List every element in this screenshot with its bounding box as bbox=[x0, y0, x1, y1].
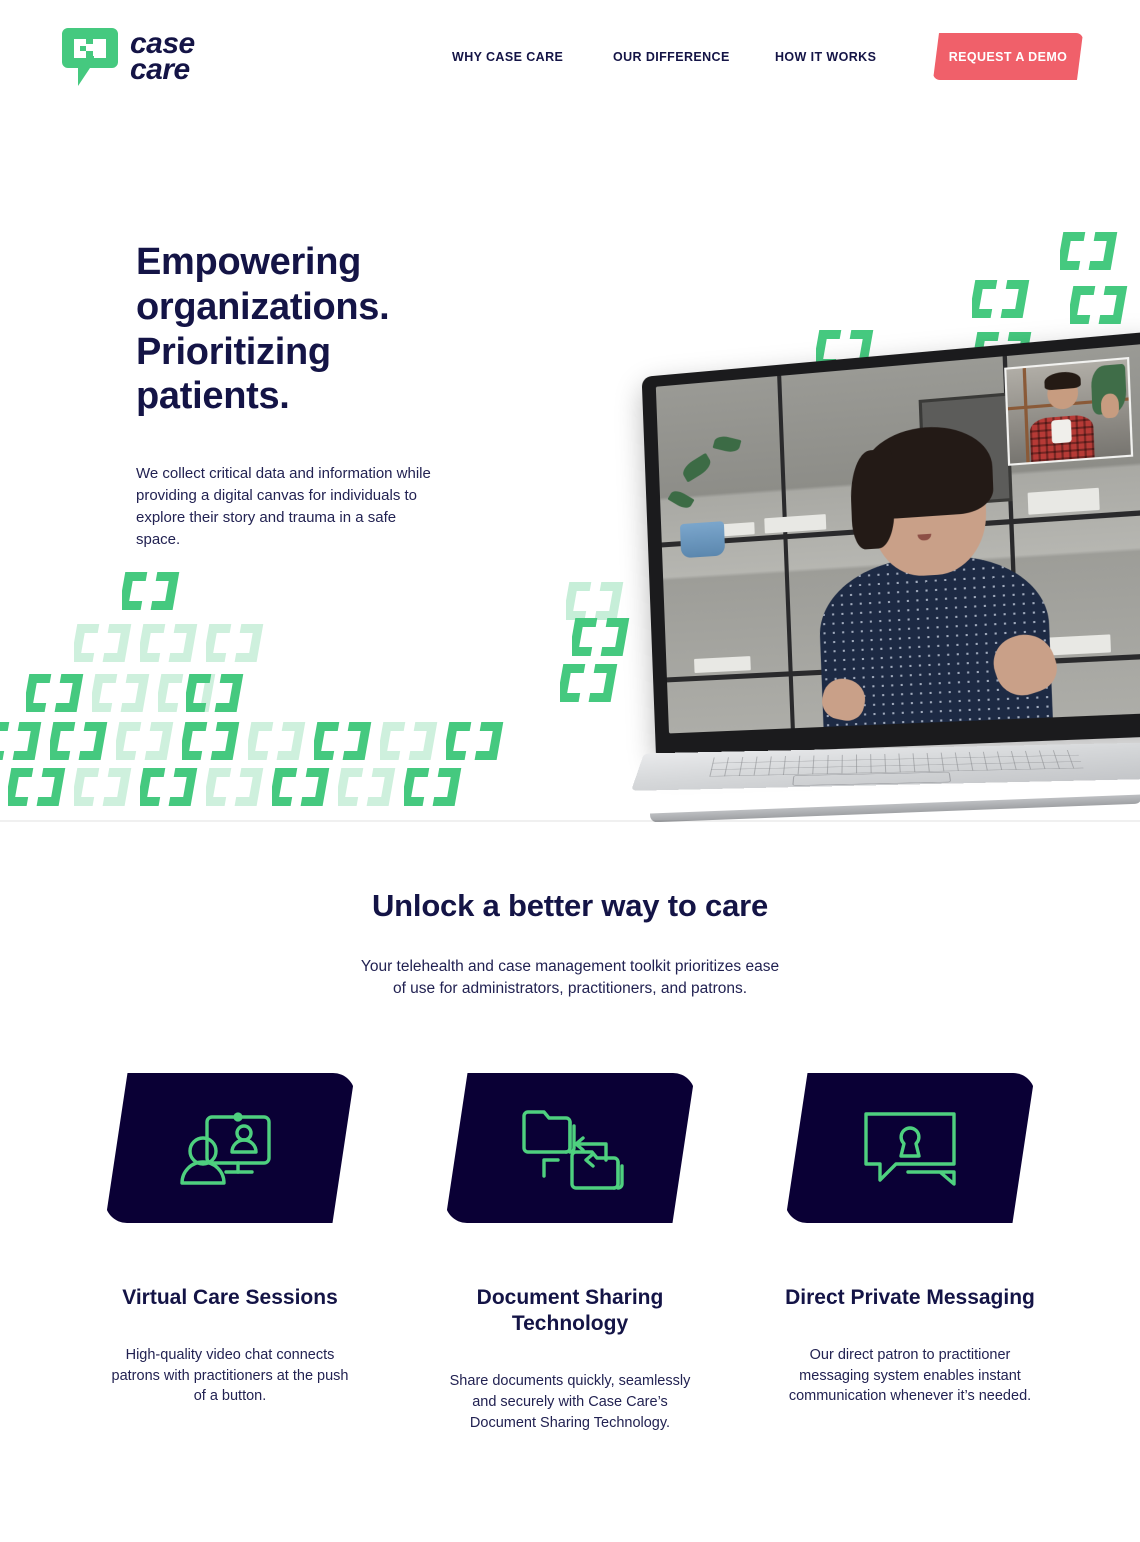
feature-card-description: Our direct patron to practitioner messag… bbox=[785, 1345, 1035, 1407]
folder-exchange-icon bbox=[514, 1100, 626, 1196]
feature-card-title: Direct Private Messaging bbox=[785, 1285, 1035, 1311]
hero-copy: Empowering organizations. Prioritizing p… bbox=[136, 240, 446, 550]
logo-wordmark: case care bbox=[130, 31, 195, 84]
bracket-decoration bbox=[338, 764, 400, 810]
laptop-lid bbox=[642, 331, 1140, 756]
bracket-decoration bbox=[74, 620, 136, 666]
feature-card-title: Virtual Care Sessions bbox=[122, 1285, 338, 1311]
nav-item-how-it-works[interactable]: HOW IT WORKS bbox=[775, 50, 876, 64]
bracket-decoration bbox=[0, 718, 46, 764]
bracket-decoration bbox=[206, 764, 268, 810]
chat-keyhole-icon bbox=[854, 1106, 966, 1190]
laptop-base bbox=[646, 748, 1140, 822]
logo[interactable]: case care bbox=[60, 26, 195, 88]
nav-item-why-case-care[interactable]: WHY CASE CARE bbox=[452, 50, 563, 64]
bracket-decoration bbox=[122, 568, 184, 614]
bracket-decoration bbox=[248, 718, 310, 764]
hero-paragraph: We collect critical data and information… bbox=[136, 463, 431, 550]
features-subheading: Your telehealth and case management tool… bbox=[360, 956, 780, 1001]
bracket-decoration bbox=[8, 764, 70, 810]
bracket-decoration bbox=[272, 764, 334, 810]
bracket-decoration bbox=[92, 670, 154, 716]
feature-cards: Virtual Care Sessions High-quality video… bbox=[0, 1073, 1140, 1433]
features-section: Unlock a better way to care Your telehea… bbox=[0, 822, 1140, 1433]
feature-card-description: High-quality video chat connects patrons… bbox=[105, 1345, 355, 1407]
video-call-participant-main bbox=[828, 420, 1037, 726]
bracket-decoration bbox=[74, 764, 136, 810]
bracket-decoration bbox=[380, 718, 442, 764]
bracket-decoration bbox=[1070, 282, 1132, 328]
video-call-icon bbox=[174, 1105, 286, 1191]
feature-card-title: Document Sharing Technology bbox=[445, 1285, 695, 1338]
feature-card-tile bbox=[785, 1073, 1035, 1223]
bracket-decoration bbox=[116, 718, 178, 764]
bracket-decoration bbox=[140, 764, 202, 810]
bracket-decoration bbox=[26, 670, 88, 716]
logo-line-2: care bbox=[130, 57, 195, 83]
bracket-decoration bbox=[140, 620, 202, 666]
bracket-decoration bbox=[446, 718, 508, 764]
speech-bubble-brackets-logo-icon bbox=[60, 26, 120, 88]
bracket-decoration bbox=[186, 670, 248, 716]
feature-card-description: Share documents quickly, seamlessly and … bbox=[445, 1371, 695, 1433]
nav-item-our-difference[interactable]: OUR DIFFERENCE bbox=[613, 50, 730, 64]
bracket-decoration bbox=[572, 614, 634, 660]
feature-card-tile bbox=[445, 1073, 695, 1223]
request-a-demo-button[interactable]: REQUEST A DEMO bbox=[933, 33, 1083, 80]
hero-section: Empowering organizations. Prioritizing p… bbox=[0, 0, 1140, 822]
video-call-participant-pip bbox=[1004, 357, 1133, 466]
feature-card-document-sharing-technology[interactable]: Document Sharing Technology Share docume… bbox=[445, 1073, 695, 1433]
feature-card-virtual-care-sessions[interactable]: Virtual Care Sessions High-quality video… bbox=[105, 1073, 355, 1433]
laptop-video-call-image bbox=[646, 362, 1140, 822]
bracket-decoration bbox=[972, 276, 1034, 322]
features-heading: Unlock a better way to care bbox=[0, 888, 1140, 924]
bracket-decoration bbox=[314, 718, 376, 764]
site-header: case care WHY CASE CARE OUR DIFFERENCE H… bbox=[0, 0, 1140, 112]
hero-heading: Empowering organizations. Prioritizing p… bbox=[136, 240, 446, 419]
bracket-decoration bbox=[560, 660, 622, 706]
bracket-decoration bbox=[50, 718, 112, 764]
laptop-screen bbox=[656, 344, 1140, 734]
bracket-decoration bbox=[182, 718, 244, 764]
bracket-decoration bbox=[1060, 228, 1122, 274]
feature-card-direct-private-messaging[interactable]: Direct Private Messaging Our direct patr… bbox=[785, 1073, 1035, 1433]
laptop-trackpad bbox=[792, 772, 951, 785]
bracket-decoration bbox=[404, 764, 466, 810]
bracket-decoration bbox=[206, 620, 268, 666]
request-a-demo-label: REQUEST A DEMO bbox=[949, 50, 1068, 64]
feature-card-tile bbox=[105, 1073, 355, 1223]
